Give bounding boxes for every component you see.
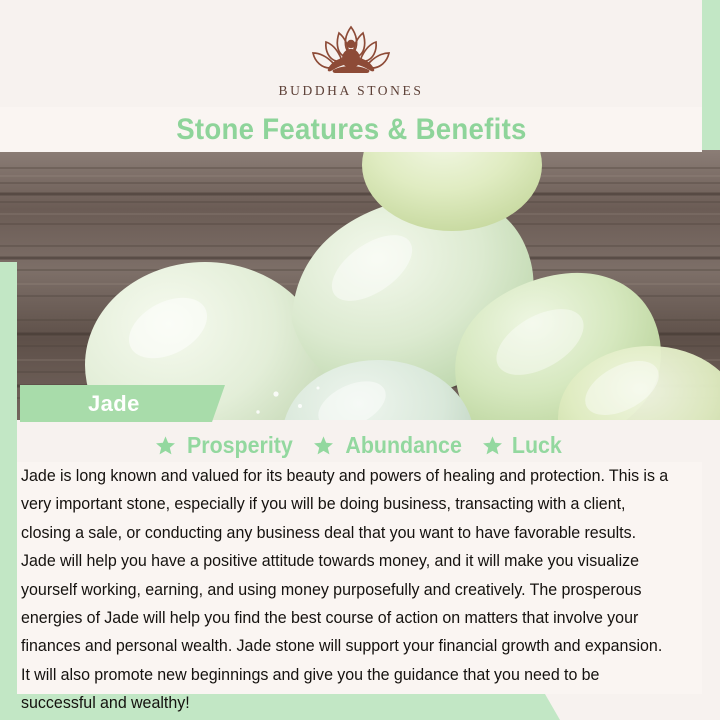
benefit-item-luck: Luck — [482, 432, 564, 459]
stone-label: Jade — [88, 391, 140, 417]
infographic-page: BUDDHA STONES Stone Features & Benefits — [0, 0, 720, 720]
stone-photo — [0, 150, 720, 420]
top-band-mask — [0, 0, 702, 15]
jade-stones-illustration — [0, 150, 720, 420]
star-icon — [482, 435, 503, 456]
lotus-meditation-figure-icon — [287, 23, 415, 81]
stone-label-banner: Jade — [20, 385, 225, 422]
benefit-item-abundance: Abundance — [313, 432, 466, 459]
benefit-label: Abundance — [345, 432, 461, 459]
brand-name: BUDDHA STONES — [279, 83, 424, 99]
description-text: Jade is long known and valued for its be… — [21, 462, 672, 718]
star-icon — [313, 435, 334, 456]
left-green-band — [0, 262, 17, 720]
benefit-item-prosperity: Prosperity — [155, 432, 297, 459]
benefits-row: Prosperity Abundance Luck — [17, 428, 702, 462]
page-title: Stone Features & Benefits — [176, 113, 526, 147]
description-panel: Jade is long known and valued for its be… — [17, 462, 702, 694]
benefit-label: Luck — [512, 432, 562, 459]
star-icon — [155, 435, 176, 456]
brand-header: BUDDHA STONES — [0, 15, 702, 107]
benefit-label: Prosperity — [187, 432, 293, 459]
title-strip: Stone Features & Benefits — [0, 107, 702, 152]
